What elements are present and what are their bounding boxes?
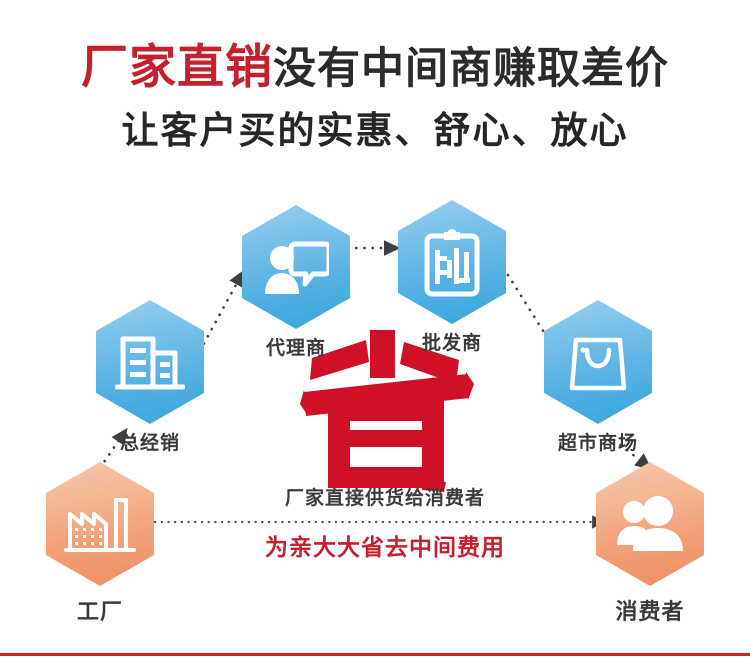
factory-hexagon[interactable] [46, 462, 154, 586]
general-distributor-hexagon[interactable] [96, 300, 204, 424]
factory-icon [64, 494, 136, 554]
page-title: 厂家直销没有中间商赚取差价 [0, 44, 750, 91]
supermarket-hexagon[interactable] [544, 300, 652, 424]
consumer-label: 消费者 [615, 594, 684, 626]
wholesaler-label: 批发商 [422, 328, 482, 355]
office-buildings-icon [115, 331, 185, 393]
consumer-hexagon[interactable] [596, 462, 704, 586]
wholesaler-hexagon[interactable] [398, 200, 506, 324]
shopping-bag-icon [568, 330, 628, 394]
savings-caption: 为亲大大省去中间费用 [175, 528, 595, 562]
direct-supply-caption: 厂家直接供货给消费者 [175, 483, 595, 510]
agent-label: 代理商 [266, 333, 326, 360]
page-subtitle: 让客户买的实惠、舒心、放心 [0, 108, 750, 154]
supermarket-label: 超市商场 [558, 428, 638, 455]
general-distributor-label: 总经销 [120, 428, 180, 455]
two-people-icon [616, 495, 684, 553]
agent-hexagon[interactable] [242, 205, 350, 329]
clipboard-pi-icon [422, 226, 482, 298]
headline-emphasis: 厂家直销 [81, 40, 273, 95]
person-speech-bubble-icon [263, 238, 329, 296]
factory-label: 工厂 [77, 594, 123, 626]
promo-graphic-canvas: 厂家直销没有中间商赚取差价 让客户买的实惠、舒心、放心 [0, 0, 750, 659]
headline-rest: 没有中间商赚取差价 [273, 44, 669, 94]
bottom-divider [0, 653, 750, 656]
